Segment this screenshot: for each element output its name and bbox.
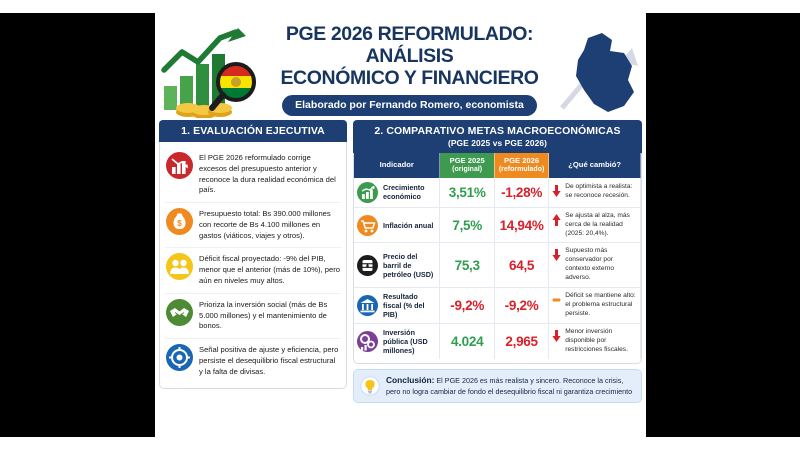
indicator-label: Resultado fiscal (% del PIB) — [383, 292, 436, 319]
value-pge2025: 7,5% — [443, 218, 490, 233]
letterbox-right — [646, 13, 800, 437]
svg-text:$: $ — [177, 219, 182, 228]
value-pge2026: -1,28% — [498, 185, 545, 200]
cell-indicator: Inversión pública (USD millones) — [354, 324, 440, 360]
value-pge2025: -9,2% — [443, 298, 490, 313]
cell-change: Se ajusta al alza, más cerca de la reali… — [549, 207, 641, 243]
change-text: Déficit se mantiene alto: el problema es… — [565, 292, 637, 319]
left-panel-heading: 1. EVALUACIÓN EJECUTIVA — [159, 120, 347, 142]
list-item-text: Prioriza la inversión social (más de Bs … — [199, 299, 340, 332]
cell-pge2025: 75,3 — [440, 243, 494, 288]
indicator-label: Precio del barril de petróleo (USD) — [383, 252, 436, 279]
right-panel-subheading: (PGE 2025 vs PGE 2026) — [357, 138, 638, 148]
cell-pge2026: -9,2% — [494, 288, 548, 324]
column-header-change: ¿Qué cambió? — [549, 153, 641, 178]
comparison-table: Indicador PGE 2025 (original) PGE 2026 (… — [354, 153, 641, 359]
cell-indicator: Inflación anual — [354, 207, 440, 243]
list-item-text: Déficit fiscal proyectado: -9% del PIB, … — [199, 253, 340, 286]
cell-pge2025: -9,2% — [440, 288, 494, 324]
change-text: Se ajusta al alza, más cerca de la reali… — [565, 212, 637, 239]
arrow-up-icon — [552, 212, 561, 231]
screenshot-stage: PGE 2026 REFORMULADO: ANÁLISIS ECONÓMICO… — [0, 0, 800, 450]
oil-barrel-icon — [357, 255, 378, 276]
change-text: Supuesto más conservador por contexto ex… — [565, 247, 637, 283]
table-row: Precio del barril de petróleo (USD) 75,3… — [354, 243, 641, 288]
column-header-pge2026-sub: (reformulado) — [497, 166, 546, 174]
cell-pge2026: 14,94% — [494, 207, 548, 243]
list-item: $ Presupuesto total: Bs 390.000 millones… — [165, 202, 341, 247]
equal-dash-icon — [552, 292, 561, 311]
infographic-body: 1. EVALUACIÓN EJECUTIVA El — [155, 120, 646, 450]
column-header-pge2025-sub: (original) — [442, 166, 491, 174]
value-pge2026: 64,5 — [498, 258, 545, 273]
cell-pge2025: 7,5% — [440, 207, 494, 243]
column-header-indicator: Indicador — [354, 153, 440, 178]
value-pge2026: -9,2% — [498, 298, 545, 313]
cell-change: De optimista a realista: se reconoce rec… — [549, 178, 641, 208]
cell-change: Déficit se mantiene alto: el problema es… — [549, 288, 641, 324]
macro-comparison-panel: 2. COMPARATIVO METAS MACROECONÓMICAS (PG… — [353, 120, 642, 450]
author-badge: Elaborado por Fernando Romero, economist… — [282, 95, 537, 116]
target-icon — [166, 344, 193, 371]
value-pge2025: 75,3 — [443, 258, 490, 273]
table-row: Crecimiento económico 3,51% -1,28% — [354, 178, 641, 208]
arrow-down-icon — [552, 247, 561, 266]
arrow-down-icon — [552, 328, 561, 347]
cell-pge2025: 4.024 — [440, 324, 494, 360]
growth-chart-icon — [357, 182, 378, 203]
money-bag-icon: $ — [166, 208, 193, 235]
infographic-header: PGE 2026 REFORMULADO: ANÁLISIS ECONÓMICO… — [155, 0, 646, 118]
value-pge2025: 3,51% — [443, 185, 490, 200]
list-item: Déficit fiscal proyectado: -9% del PIB, … — [165, 247, 341, 292]
people-group-icon — [166, 253, 193, 280]
column-header-pge2026-main: PGE 2026 — [504, 156, 539, 165]
change-text: Menor inversión disponible por restricci… — [565, 328, 637, 355]
column-header-pge2026: PGE 2026 (reformulado) — [494, 153, 548, 178]
cell-indicator: Precio del barril de petróleo (USD) — [354, 243, 440, 288]
cell-pge2025: 3,51% — [440, 178, 494, 208]
right-panel-body: Indicador PGE 2025 (original) PGE 2026 (… — [353, 153, 642, 364]
header-title-block: PGE 2026 REFORMULADO: ANÁLISIS ECONÓMICO… — [251, 24, 568, 116]
handshake-icon — [166, 299, 193, 326]
page-title-line1: PGE 2026 REFORMULADO: ANÁLISIS — [251, 24, 568, 68]
lightbulb-icon — [360, 376, 380, 396]
table-row: Resultado fiscal (% del PIB) -9,2% -9,2% — [354, 288, 641, 324]
declining-bar-chart-icon — [166, 152, 193, 179]
conclusion-box: Conclusión: El PGE 2026 es más realista … — [353, 369, 642, 403]
list-item: Señal positiva de ajuste y eficiencia, p… — [165, 338, 341, 383]
cell-change: Menor inversión disponible por restricci… — [549, 324, 641, 360]
gears-investment-icon — [357, 331, 378, 352]
table-header-row: Indicador PGE 2025 (original) PGE 2026 (… — [354, 153, 641, 178]
cell-indicator: Crecimiento económico — [354, 178, 440, 208]
cell-pge2026: -1,28% — [494, 178, 548, 208]
value-pge2026: 2,965 — [498, 334, 545, 349]
list-item-text: El PGE 2026 reformulado corrige excesos … — [199, 152, 340, 196]
page-title-line2: ECONÓMICO Y FINANCIERO — [251, 68, 568, 90]
arrow-down-icon — [552, 183, 561, 202]
bank-institution-icon — [357, 295, 378, 316]
column-header-pge2025: PGE 2025 (original) — [440, 153, 494, 178]
executive-evaluation-panel: 1. EVALUACIÓN EJECUTIVA El — [159, 120, 347, 450]
indicator-label: Crecimiento económico — [383, 183, 436, 201]
infographic-sheet: PGE 2026 REFORMULADO: ANÁLISIS ECONÓMICO… — [155, 0, 646, 450]
value-pge2026: 14,94% — [498, 218, 545, 233]
right-panel-heading-main: 2. COMPARATIVO METAS MACROECONÓMICAS — [374, 125, 620, 137]
value-pge2025: 4.024 — [443, 334, 490, 349]
cell-change: Supuesto más conservador por contexto ex… — [549, 243, 641, 288]
left-panel-body: El PGE 2026 reformulado corrige excesos … — [159, 142, 347, 389]
indicator-label: Inversión pública (USD millones) — [383, 328, 436, 355]
right-panel-heading: 2. COMPARATIVO METAS MACROECONÓMICAS (PG… — [353, 120, 642, 153]
conclusion-label: Conclusión: — [386, 375, 434, 385]
cell-indicator: Resultado fiscal (% del PIB) — [354, 288, 440, 324]
list-item-text: Presupuesto total: Bs 390.000 millones c… — [199, 208, 340, 241]
list-item: El PGE 2026 reformulado corrige excesos … — [165, 147, 341, 202]
table-row: Inversión pública (USD millones) 4.024 2… — [354, 324, 641, 360]
indicator-label: Inflación anual — [383, 221, 433, 230]
cell-pge2026: 2,965 — [494, 324, 548, 360]
shopping-cart-icon — [357, 215, 378, 236]
table-row: Inflación anual 7,5% 14,94% — [354, 207, 641, 243]
list-item: Prioriza la inversión social (más de Bs … — [165, 293, 341, 338]
conclusion-text: Conclusión: El PGE 2026 es más realista … — [386, 375, 633, 397]
letterbox-left — [0, 13, 155, 437]
bolivia-map-icon — [554, 20, 646, 120]
column-header-pge2025-main: PGE 2025 — [450, 156, 485, 165]
cell-pge2026: 64,5 — [494, 243, 548, 288]
list-item-text: Señal positiva de ajuste y eficiencia, p… — [199, 344, 340, 377]
change-text: De optimista a realista: se reconoce rec… — [565, 183, 637, 201]
